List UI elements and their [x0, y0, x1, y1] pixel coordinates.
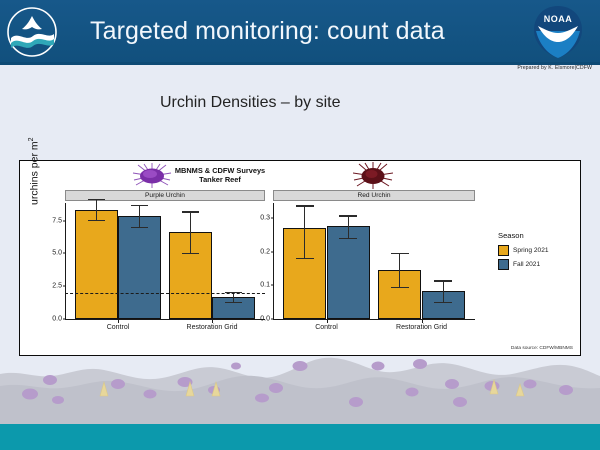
header-underline: [0, 62, 600, 65]
error-bar: [348, 215, 349, 238]
x-axis-tick-mark: [422, 320, 423, 323]
x-axis-tick-mark: [118, 320, 119, 323]
error-bar: [304, 205, 305, 258]
slide-header: Targeted monitoring: count data NOAA: [0, 0, 600, 62]
error-bar-cap: [88, 220, 105, 221]
bar: [327, 226, 370, 318]
error-bar-cap: [434, 280, 451, 281]
error-bar-cap: [131, 227, 148, 228]
y-axis-label-exponent: 2: [28, 137, 35, 141]
data-source-note: Data source: CDFW/MBNMS: [511, 346, 573, 351]
page-title: Targeted monitoring: count data: [90, 14, 510, 48]
facet-panel-purple-urchin: Purple Urchin 0.02.55.07.5ControlRestora…: [65, 190, 265, 320]
y-axis-line: [273, 203, 274, 320]
legend-item: Fall 2021: [498, 259, 549, 270]
x-axis-line: [65, 319, 265, 320]
y-axis-tick-mark: [271, 285, 274, 286]
x-axis-tick-label: Control: [315, 324, 338, 331]
y-axis-tick-label: 7.5: [52, 217, 62, 224]
y-axis-tick-label: 0.0: [260, 315, 270, 322]
error-bar: [399, 253, 400, 287]
prepared-by-credit: Prepared by K. Elsmore|CDFW: [517, 65, 592, 71]
legend-entries: Spring 2021Fall 2021: [498, 245, 549, 270]
y-axis-tick-mark: [63, 318, 66, 319]
chart-legend: Season Spring 2021Fall 2021: [498, 231, 549, 273]
y-axis-tick-label: 2.5: [52, 283, 62, 290]
section-subtitle: Urchin Densities – by site: [160, 94, 341, 112]
error-bar-cap: [131, 205, 148, 206]
chart-container: MBNMS & CDFW Surveys Tanker Reef: [19, 160, 581, 356]
legend-swatch: [498, 245, 509, 256]
error-bar-cap: [339, 215, 356, 216]
error-bar: [190, 211, 191, 252]
legend-swatch: [498, 259, 509, 270]
chart-title-line1: MBNMS & CDFW Surveys: [175, 166, 265, 175]
y-axis-tick-label: 0.0: [52, 315, 62, 322]
error-bar-cap: [391, 253, 408, 254]
error-bar-cap: [339, 238, 356, 239]
legend-title: Season: [498, 231, 549, 240]
y-axis-label-text: urchins per m: [29, 141, 41, 205]
legend-item-label: Fall 2021: [513, 261, 540, 268]
x-axis-line: [273, 319, 475, 320]
y-axis-tick-label: 0.2: [260, 248, 270, 255]
footer-bar: [0, 424, 600, 450]
error-bar: [443, 280, 444, 301]
y-axis-tick-mark: [271, 318, 274, 319]
legend-item: Spring 2021: [498, 245, 549, 256]
y-axis-tick-mark: [63, 220, 66, 221]
error-bar-cap: [296, 258, 313, 259]
x-axis-tick-label: Restoration Grid: [396, 324, 447, 331]
y-axis-tick-label: 0.1: [260, 282, 270, 289]
x-axis-tick-label: Control: [107, 324, 130, 331]
bar: [75, 210, 118, 319]
legend-item-label: Spring 2021: [513, 247, 549, 254]
y-axis-tick-mark: [63, 286, 66, 287]
error-bar-cap: [434, 302, 451, 303]
error-bar-cap: [182, 253, 199, 254]
y-axis-label: urchins per m2: [28, 137, 41, 205]
x-axis-tick-label: Restoration Grid: [187, 324, 238, 331]
svg-text:NOAA: NOAA: [544, 14, 573, 24]
y-axis-tick-mark: [271, 218, 274, 219]
error-bar-cap: [391, 287, 408, 288]
whale-tail-sanctuary-logo: [6, 6, 58, 58]
noaa-logo: NOAA: [530, 4, 586, 60]
error-bar-cap: [88, 199, 105, 200]
error-bar: [96, 199, 97, 220]
plot-area-red-urchin: 0.00.10.20.3ControlRestoration Grid: [273, 203, 475, 320]
error-bar-cap: [225, 302, 242, 303]
y-axis-tick-mark: [63, 253, 66, 254]
bar: [118, 216, 161, 319]
x-axis-tick-mark: [327, 320, 328, 323]
error-bar-cap: [296, 205, 313, 206]
y-axis-tick-label: 5.0: [52, 250, 62, 257]
y-axis-tick-label: 0.3: [260, 215, 270, 222]
x-axis-tick-mark: [212, 320, 213, 323]
y-axis-line: [65, 203, 66, 320]
y-axis-tick-mark: [271, 251, 274, 252]
error-bar: [139, 205, 140, 227]
reef-illustration: [0, 352, 600, 426]
plot-area-purple-urchin: 0.02.55.07.5ControlRestoration Grid: [65, 203, 265, 320]
error-bar-cap: [182, 211, 199, 212]
reference-line: [65, 293, 265, 294]
facet-panel-red-urchin: Red Urchin 0.00.10.20.3ControlRestoratio…: [273, 190, 475, 320]
facet-strip-red-urchin: Red Urchin: [273, 190, 475, 201]
